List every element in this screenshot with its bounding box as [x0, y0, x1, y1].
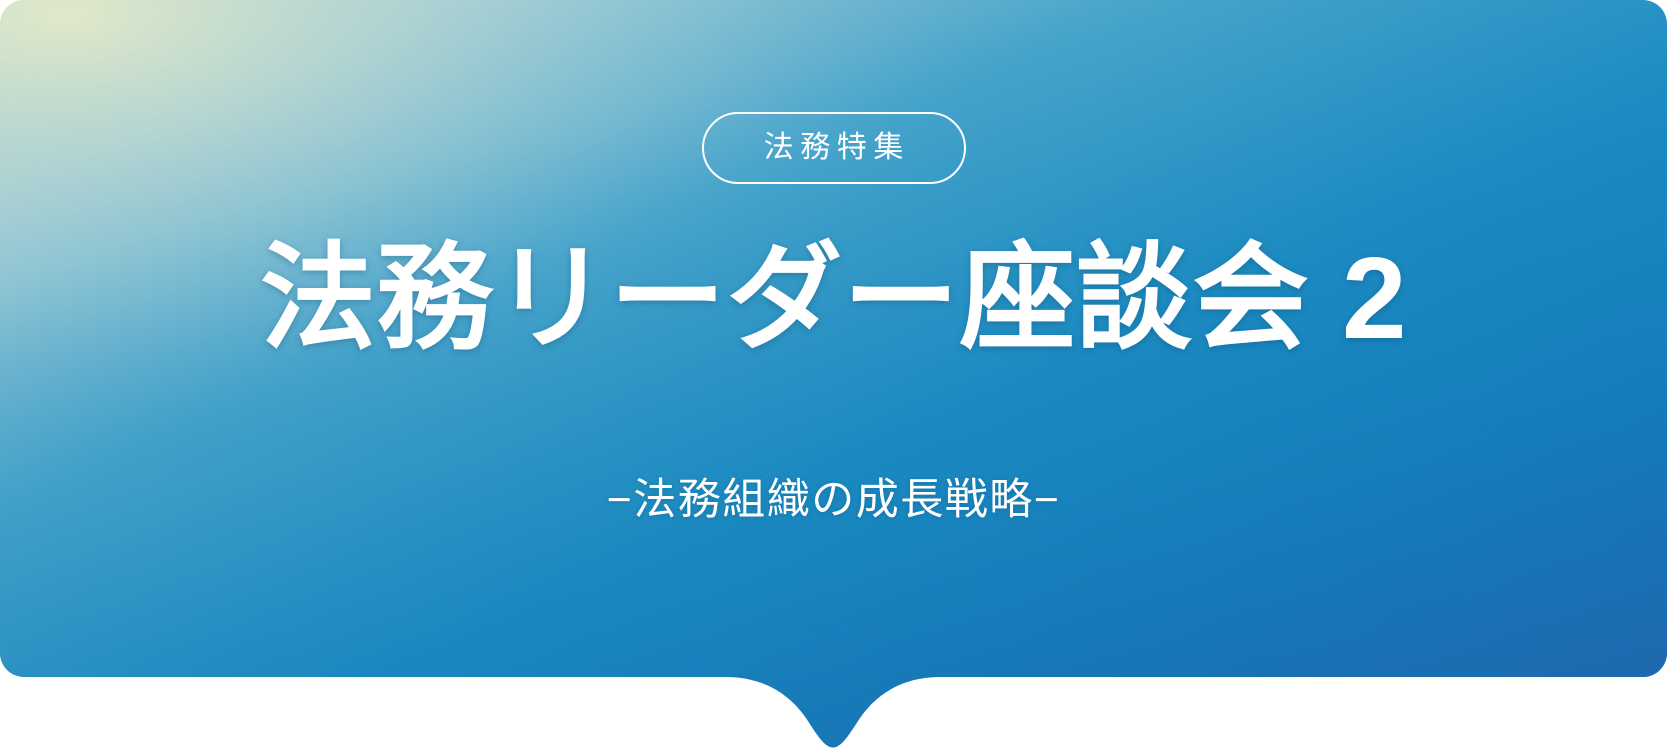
page-title: 法務リーダー座談会 2	[260, 236, 1407, 361]
category-badge-label: 法務特集	[757, 133, 910, 163]
hero-banner: 法務特集 法務リーダー座談会 2 −法務組織の成長戦略−	[0, 0, 1667, 750]
category-badge: 法務特集	[702, 112, 966, 184]
page-subtitle: −法務組織の成長戦略−	[607, 475, 1061, 527]
